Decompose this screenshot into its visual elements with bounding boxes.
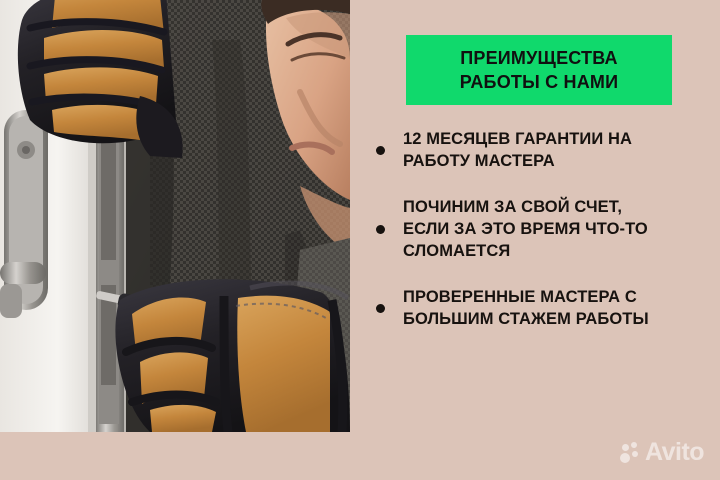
benefits-list: 12 МЕСЯЦЕВ ГАРАНТИИ НА РАБОТУ МАСТЕРА ПО… <box>376 128 702 354</box>
headline-banner: ПРЕИМУЩЕСТВА РАБОТЫ С НАМИ <box>406 35 672 105</box>
benefit-3-line-1: ПРОВЕРЕННЫЕ МАСТЕРА С <box>403 286 649 308</box>
headline-line-2: РАБОТЫ С НАМИ <box>460 70 619 94</box>
benefit-1-line-1: 12 МЕСЯЦЕВ ГАРАНТИИ НА <box>403 128 632 150</box>
bullet-dot-icon <box>376 225 385 234</box>
photo-illustration <box>0 0 350 432</box>
list-item: ПОЧИНИМ ЗА СВОЙ СЧЕТ, ЕСЛИ ЗА ЭТО ВРЕМЯ … <box>376 196 702 262</box>
bullet-dot-icon <box>376 146 385 155</box>
benefit-text-1: 12 МЕСЯЦЕВ ГАРАНТИИ НА РАБОТУ МАСТЕРА <box>403 128 632 172</box>
advert-canvas: ПРЕИМУЩЕСТВА РАБОТЫ С НАМИ 12 МЕСЯЦЕВ ГА… <box>0 0 720 480</box>
avito-dots-icon <box>620 442 642 464</box>
list-item: 12 МЕСЯЦЕВ ГАРАНТИИ НА РАБОТУ МАСТЕРА <box>376 128 702 172</box>
benefit-3-line-2: БОЛЬШИМ СТАЖЕМ РАБОТЫ <box>403 308 649 330</box>
avito-wordmark: Avito <box>645 440 704 465</box>
bullet-dot-icon <box>376 304 385 313</box>
benefit-text-3: ПРОВЕРЕННЫЕ МАСТЕРА С БОЛЬШИМ СТАЖЕМ РАБ… <box>403 286 649 330</box>
avito-watermark: Avito <box>620 440 704 465</box>
locksmith-photo <box>0 0 350 432</box>
benefit-text-2: ПОЧИНИМ ЗА СВОЙ СЧЕТ, ЕСЛИ ЗА ЭТО ВРЕМЯ … <box>403 196 648 262</box>
list-item: ПРОВЕРЕННЫЕ МАСТЕРА С БОЛЬШИМ СТАЖЕМ РАБ… <box>376 286 702 330</box>
benefit-2-line-2: ЕСЛИ ЗА ЭТО ВРЕМЯ ЧТО-ТО <box>403 218 648 240</box>
benefit-2-line-3: СЛОМАЕТСЯ <box>403 240 648 262</box>
lower-glove <box>115 279 350 432</box>
headline-line-1: ПРЕИМУЩЕСТВА <box>460 46 617 70</box>
benefit-1-line-2: РАБОТУ МАСТЕРА <box>403 150 632 172</box>
benefit-2-line-1: ПОЧИНИМ ЗА СВОЙ СЧЕТ, <box>403 196 648 218</box>
